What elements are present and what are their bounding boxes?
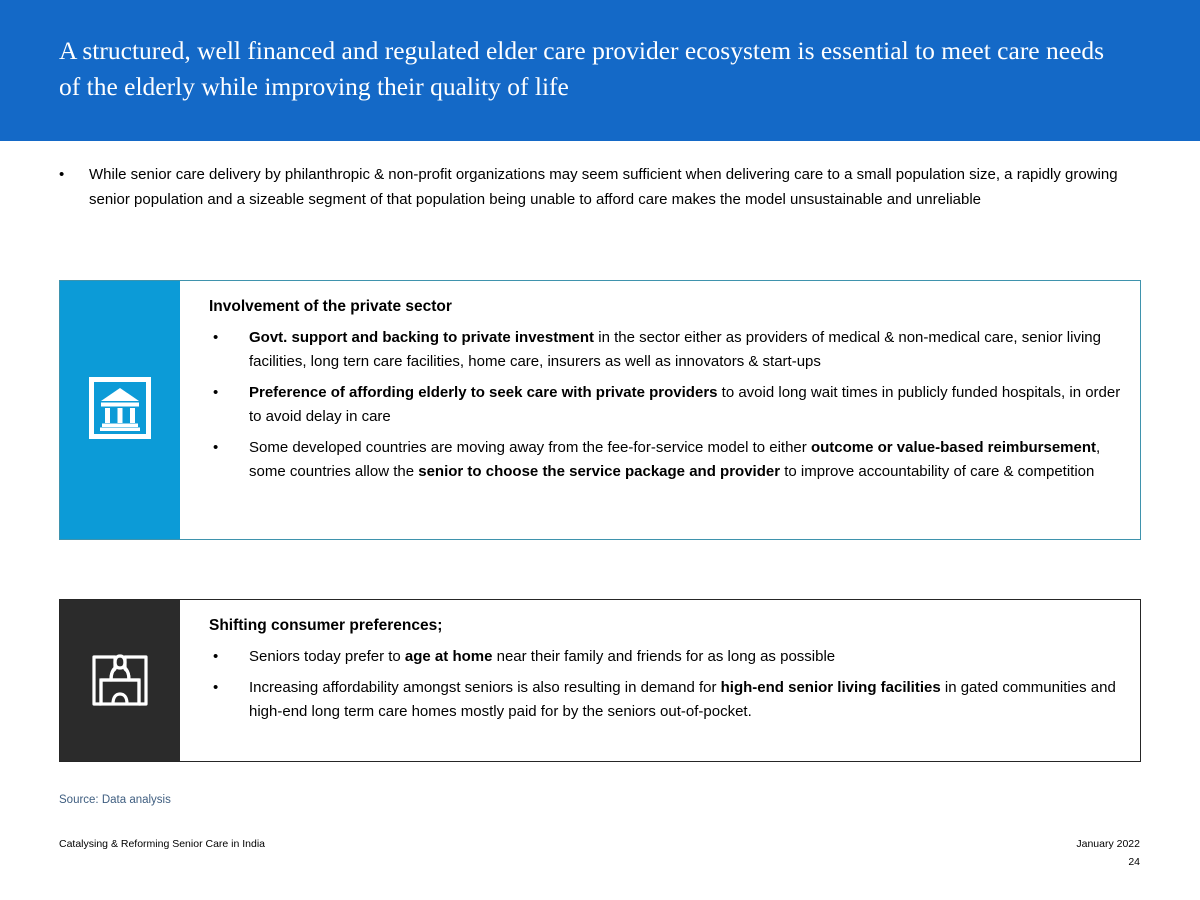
card-icon-panel [60, 600, 180, 761]
card-consumer-preferences: Shifting consumer preferences; • Seniors… [59, 599, 1141, 762]
list-item-text: Preference of affording elderly to seek … [249, 381, 1124, 429]
source-note: Source: Data analysis [59, 794, 171, 806]
list-item: • Some developed countries are moving aw… [209, 436, 1124, 484]
bullet-mark-icon: • [209, 436, 249, 460]
list-item-text: Seniors today prefer to age at home near… [249, 645, 1124, 669]
card-bullet-list: • Seniors today prefer to age at home ne… [209, 645, 1124, 724]
bullet-mark-icon: • [209, 381, 249, 405]
footer-page-number: 24 [1128, 856, 1140, 868]
bullet-mark-icon: • [209, 676, 249, 700]
footer-deck-title: Catalysing & Reforming Senior Care in In… [59, 838, 265, 850]
list-item: • Preference of affording elderly to see… [209, 381, 1124, 429]
bullet-mark-icon: • [209, 326, 249, 350]
list-item-text: Increasing affordability amongst seniors… [249, 676, 1124, 724]
card-body: Shifting consumer preferences; • Seniors… [180, 600, 1140, 761]
card-heading: Shifting consumer preferences; [209, 615, 1124, 637]
list-item-text: Govt. support and backing to private inv… [249, 326, 1124, 374]
footer-date: January 2022 [1076, 838, 1140, 850]
list-item: • Seniors today prefer to age at home ne… [209, 645, 1124, 669]
intro-text: While senior care delivery by philanthro… [89, 163, 1141, 212]
header-banner: A structured, well financed and regulate… [0, 0, 1200, 141]
senior-at-home-icon [89, 647, 151, 714]
card-private-sector: Involvement of the private sector • Govt… [59, 280, 1141, 540]
list-item-text: Some developed countries are moving away… [249, 436, 1124, 484]
bullet-mark-icon: • [59, 163, 89, 187]
intro-bullet-row: • While senior care delivery by philanth… [59, 163, 1141, 212]
bank-institution-icon [89, 377, 151, 444]
intro-block: • While senior care delivery by philanth… [59, 163, 1141, 212]
page-title: A structured, well financed and regulate… [59, 33, 1119, 105]
list-item: • Govt. support and backing to private i… [209, 326, 1124, 374]
bullet-mark-icon: • [209, 645, 249, 669]
card-heading: Involvement of the private sector [209, 296, 1124, 318]
list-item: • Increasing affordability amongst senio… [209, 676, 1124, 724]
slide: A structured, well financed and regulate… [0, 0, 1200, 900]
card-icon-panel [60, 281, 180, 539]
card-bullet-list: • Govt. support and backing to private i… [209, 326, 1124, 484]
card-body: Involvement of the private sector • Govt… [180, 281, 1140, 539]
